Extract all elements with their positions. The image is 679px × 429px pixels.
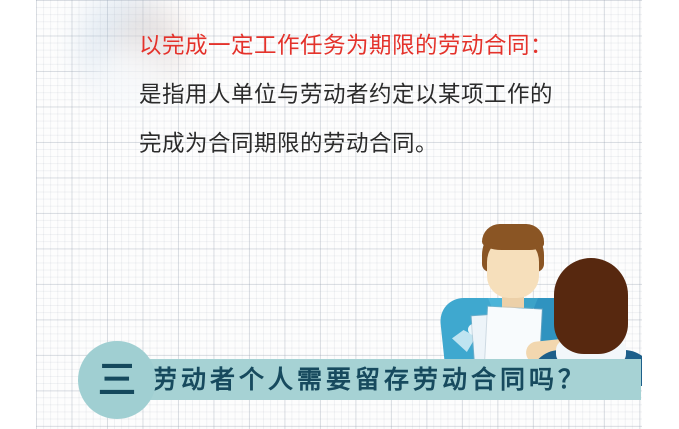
left-page-margin (0, 0, 36, 429)
definition-paragraph: 以完成一定工作任务为期限的劳动合同：是指用人单位与劳动者约定以某项工作的完成为合… (139, 22, 559, 169)
right-page-margin (642, 0, 679, 429)
definition-body: 是指用人单位与劳动者约定以某项工作的完成为合同期限的劳动合同。 (139, 82, 553, 157)
infographic-page: 以完成一定工作任务为期限的劳动合同：是指用人单位与劳动者约定以某项工作的完成为合… (0, 0, 679, 429)
back-person-hair (554, 258, 628, 354)
front-person-fringe (482, 224, 544, 250)
section-number-label: 三 (78, 341, 156, 419)
section-question-text: 劳动者个人需要留存劳动合同吗？ (152, 360, 652, 400)
definition-term: 以完成一定工作任务为期限的劳动合同： (139, 33, 553, 59)
